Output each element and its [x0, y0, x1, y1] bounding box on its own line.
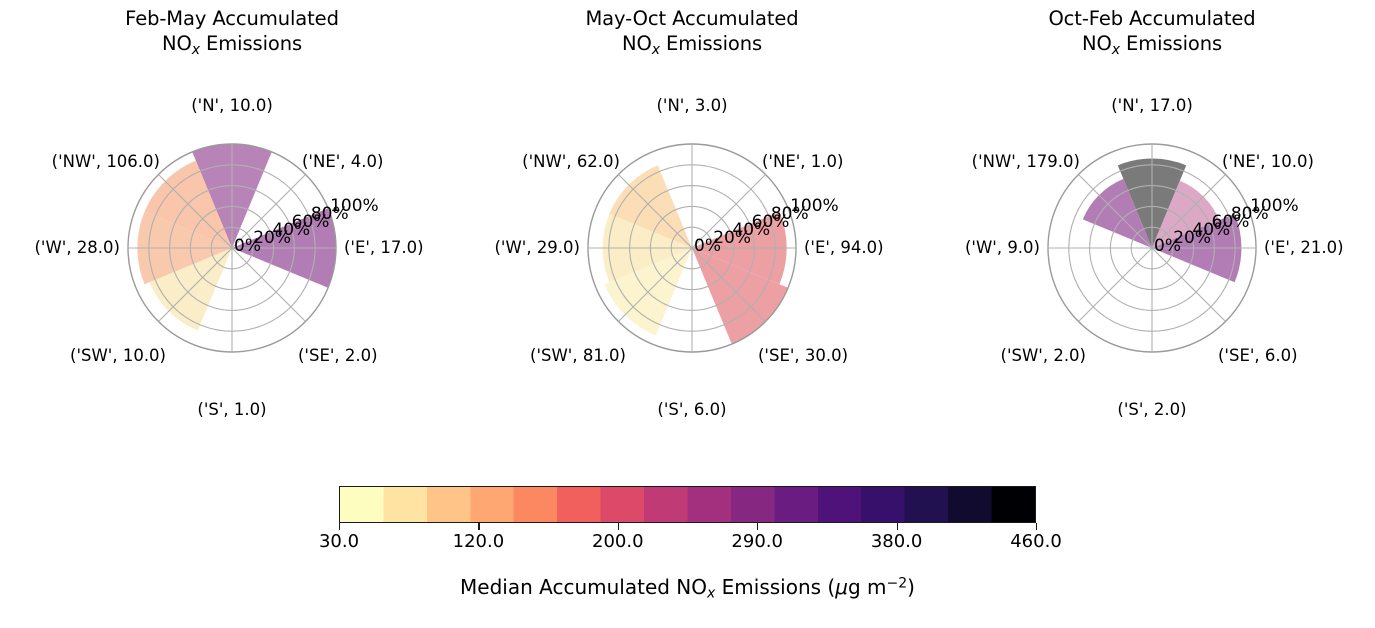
direction-label-e: ('E', 17.0) [344, 238, 424, 257]
direction-label-ne: ('NE', 1.0) [762, 152, 843, 171]
direction-label-nw: ('NW', 179.0) [972, 152, 1080, 171]
direction-label-ne: ('NE', 10.0) [1222, 152, 1314, 171]
colorbar-ticklabel-120-0: 120.0 [453, 531, 505, 552]
colorbar-caption: Median Accumulated NOx Emissions (μg m−2… [0, 575, 1375, 602]
direction-label-sw: ('SW', 10.0) [70, 346, 166, 365]
radial-tick-label-100: 100% [330, 196, 379, 216]
polar-panel-feb-may: Feb-May AccumulatedNOx Emissions('N', 10… [2, 0, 462, 440]
direction-label-n: ('N', 3.0) [656, 96, 727, 115]
colorbar-ticklabel-380-0: 380.0 [871, 531, 923, 552]
colorbar-ticklabels: 30.0120.0200.0290.0380.0460.0 [0, 531, 1375, 557]
radial-tick-label-100: 100% [790, 196, 839, 216]
figure-root: Feb-May AccumulatedNOx Emissions('N', 10… [0, 0, 1375, 628]
colorbar-ticklabel-460-0: 460.0 [1010, 531, 1062, 552]
spoke-225 [1078, 248, 1152, 322]
colorbar-tick-120-0 [478, 523, 479, 530]
direction-label-ne: ('NE', 4.0) [302, 152, 383, 171]
polar-axes-oct-feb [922, 0, 1375, 440]
direction-label-nw: ('NW', 62.0) [522, 152, 620, 171]
direction-label-s: ('S', 1.0) [197, 400, 266, 419]
colorbar-caption-close: ) [907, 575, 915, 599]
colorbar-gradient [339, 486, 1036, 523]
colorbar-caption-unit: g m [848, 575, 887, 599]
direction-label-se: ('SE', 30.0) [758, 346, 848, 365]
direction-label-w: ('W', 28.0) [35, 238, 121, 257]
colorbar-caption-exponent: −2 [887, 576, 908, 592]
direction-label-sw: ('SW', 81.0) [530, 346, 626, 365]
polar-panel-may-oct: May-Oct AccumulatedNOx Emissions('N', 3.… [462, 0, 922, 440]
direction-label-e: ('E', 21.0) [1264, 238, 1344, 257]
angular-gridlines [1048, 144, 1256, 352]
direction-label-e: ('E', 94.0) [804, 238, 884, 257]
polar-axes-may-oct [462, 0, 922, 440]
colorbar-caption-mu: μ [835, 575, 848, 599]
direction-label-nw: ('NW', 106.0) [52, 152, 160, 171]
colorbar-caption-prefix: Median Accumulated NO [460, 575, 707, 599]
direction-label-w: ('W', 9.0) [965, 238, 1040, 257]
colorbar [339, 486, 1036, 523]
colorbar-tick-200-0 [618, 523, 619, 530]
colorbar-tick-380-0 [897, 523, 898, 530]
colorbar-tick-30-0 [339, 523, 340, 530]
colorbar-ticklabel-290-0: 290.0 [731, 531, 783, 552]
direction-label-s: ('S', 2.0) [1117, 400, 1186, 419]
direction-label-n: ('N', 10.0) [191, 96, 273, 115]
angular-gridlines [128, 144, 336, 352]
colorbar-ticklabel-30-0: 30.0 [319, 531, 359, 552]
colorbar-tick-460-0 [1036, 523, 1037, 530]
polar-axes-feb-may [2, 0, 462, 440]
polar-panel-oct-feb: Oct-Feb AccumulatedNOx Emissions('N', 17… [922, 0, 1375, 440]
direction-label-w: ('W', 29.0) [495, 238, 581, 257]
direction-label-n: ('N', 17.0) [1111, 96, 1193, 115]
colorbar-ticklabel-200-0: 200.0 [592, 531, 644, 552]
colorbar-tick-290-0 [757, 523, 758, 530]
radial-tick-label-100: 100% [1250, 196, 1299, 216]
direction-label-sw: ('SW', 2.0) [1001, 346, 1086, 365]
direction-label-se: ('SE', 2.0) [298, 346, 378, 365]
direction-label-s: ('S', 6.0) [657, 400, 726, 419]
direction-label-se: ('SE', 6.0) [1218, 346, 1298, 365]
angular-gridlines [588, 144, 796, 352]
colorbar-caption-suffix: Emissions ( [715, 575, 835, 599]
